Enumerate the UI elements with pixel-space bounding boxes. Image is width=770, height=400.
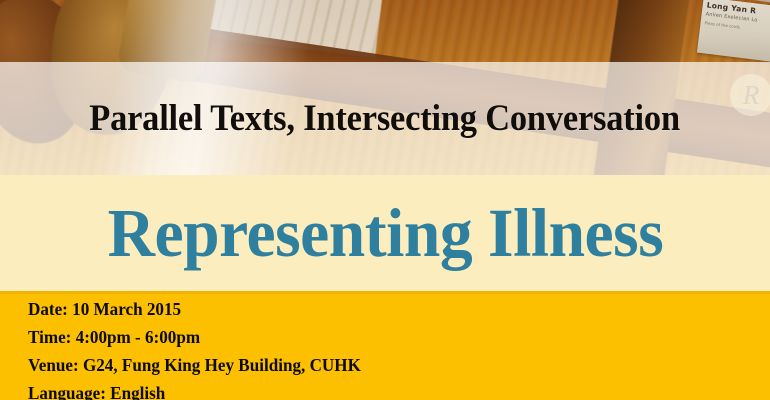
- event-details-list: Date: 10 March 2015 Time: 4:00pm - 6:00p…: [28, 295, 378, 400]
- series-title-band: Parallel Texts, Intersecting Conversatio…: [0, 62, 770, 175]
- event-poster: Long Yan R Anlien Exelecian Lo Pleas of …: [0, 0, 770, 400]
- series-title: Parallel Texts, Intersecting Conversatio…: [90, 100, 681, 137]
- event-details-band: Date: 10 March 2015 Time: 4:00pm - 6:00p…: [0, 291, 770, 400]
- detail-line-time: Time: 4:00pm - 6:00pm: [28, 323, 361, 351]
- detail-line-date: Date: 10 March 2015: [28, 295, 361, 323]
- detail-line-venue: Venue: G24, Fung King Hey Building, CUHK: [28, 351, 361, 379]
- event-headline: Representing Illness: [107, 199, 663, 268]
- headline-band: Representing Illness: [0, 175, 770, 291]
- detail-line-language: Language: English: [28, 379, 361, 400]
